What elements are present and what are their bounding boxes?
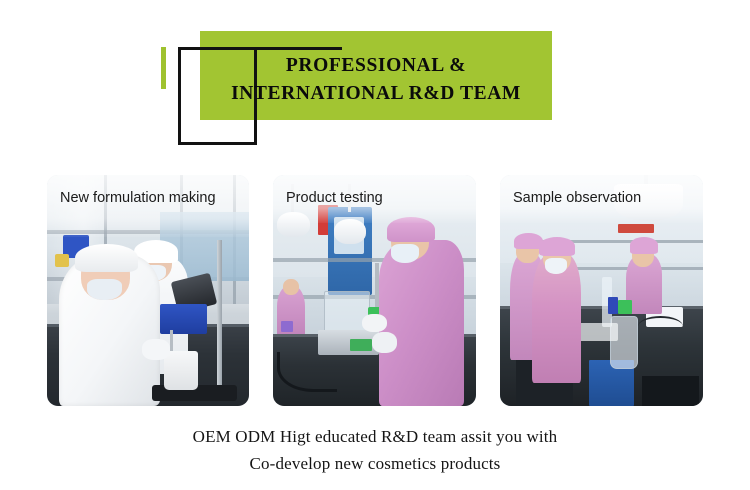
page-root: PROFESSIONAL & INTERNATIONAL R&D TEAM — [0, 0, 750, 490]
photo-gallery: New formulation making — [0, 0, 750, 490]
gallery-panel-sample-observation[interactable]: Sample observation — [500, 175, 703, 406]
gallery-panel-new-formulation-making[interactable]: New formulation making — [47, 175, 249, 406]
footer-caption-line-1: OEM ODM Higt educated R&D team assit you… — [0, 424, 750, 451]
gallery-panel-product-testing[interactable]: Product testing — [273, 175, 476, 406]
panel-label-sample-observation: Sample observation — [513, 189, 693, 208]
footer-caption: OEM ODM Higt educated R&D team assit you… — [0, 424, 750, 477]
panel-label-product-testing: Product testing — [286, 189, 466, 208]
footer-caption-line-2: Co-develop new cosmetics products — [0, 451, 750, 478]
panel-label-new-formulation-making: New formulation making — [60, 189, 239, 208]
